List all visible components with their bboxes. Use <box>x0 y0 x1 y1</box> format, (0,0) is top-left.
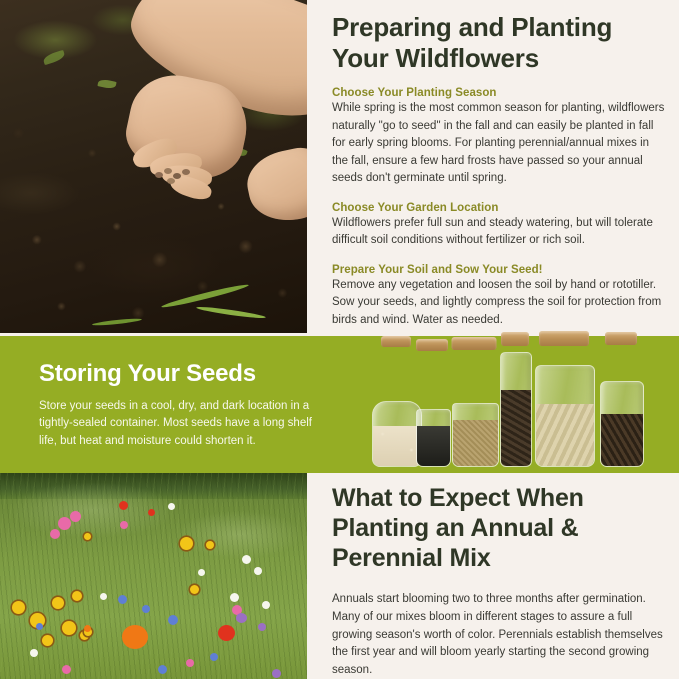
flower-blue-cornflower <box>142 605 150 613</box>
flower-purple <box>272 669 281 678</box>
flower-yellow <box>84 533 91 540</box>
subhead-prepare-soil: Prepare Your Soil and Sow Your Seed! <box>332 264 665 276</box>
flower-yellow <box>190 585 199 594</box>
cork-lid-icon <box>605 332 637 345</box>
flower-yellow <box>206 541 214 549</box>
flower-yellow <box>42 635 53 646</box>
cork-lid-icon <box>539 331 589 346</box>
wildflower-meadow-photo <box>0 473 307 679</box>
flower-yellow <box>180 537 193 550</box>
storing-body: Store your seeds in a cool, dry, and dar… <box>39 398 327 450</box>
flower-blue-cornflower <box>118 595 127 604</box>
flower-blue-cornflower <box>168 615 178 625</box>
flower-yellow <box>12 601 25 614</box>
flower-blue-cornflower <box>210 653 218 661</box>
flower-white <box>262 601 270 609</box>
subhead-planting-season: Choose Your Planting Season <box>332 87 665 99</box>
flower-purple <box>258 623 266 631</box>
expect-title: What to Expect When Planting an Annual &… <box>332 473 665 573</box>
section-what-to-expect: What to Expect When Planting an Annual &… <box>0 473 679 679</box>
flower-yellow <box>62 621 76 635</box>
jar-brown-grain <box>452 403 499 467</box>
flower-orange-poppy <box>122 625 148 649</box>
flower-pink <box>62 665 71 674</box>
flower-red-poppy <box>218 625 235 641</box>
flower-yellow <box>52 597 64 609</box>
cork-lid-icon <box>381 336 411 347</box>
flower-pink <box>50 529 60 539</box>
cork-lid-icon <box>501 332 529 346</box>
jar-white-beans <box>372 401 422 467</box>
expect-text-column: What to Expect When Planting an Annual &… <box>332 473 665 679</box>
page-title: Preparing and Planting Your Wildflowers <box>332 0 665 73</box>
section-preparing-and-planting: Preparing and Planting Your Wildflowers … <box>0 0 679 336</box>
jar-tall-dark-seeds <box>500 352 532 467</box>
jar-large-pumpkin-seeds <box>535 365 595 467</box>
meadow-grass-texture <box>0 473 307 679</box>
flower-white <box>168 503 175 510</box>
flower-blue-cornflower <box>158 665 167 674</box>
planting-text-column: Preparing and Planting Your Wildflowers … <box>332 0 665 329</box>
flower-pink <box>186 659 194 667</box>
flower-pink <box>120 521 128 529</box>
flower-pink <box>58 517 71 530</box>
flower-white <box>30 649 38 657</box>
expect-body: Annuals start blooming two to three mont… <box>332 591 665 679</box>
flower-white <box>230 593 239 602</box>
seeds-in-hand <box>155 168 197 190</box>
cork-lid-icon <box>416 339 448 351</box>
section-storing-your-seeds: Storing Your Seeds Store your seeds in a… <box>0 336 679 473</box>
hand-sowing-seeds-in-soil-photo <box>0 0 307 333</box>
flower-white <box>242 555 251 564</box>
flower-white <box>198 569 205 576</box>
flower-red <box>119 501 128 510</box>
body-prepare-soil: Remove any vegetation and loosen the soi… <box>332 277 665 329</box>
infographic-page: Preparing and Planting Your Wildflowers … <box>0 0 679 679</box>
glass-jars-of-seeds-photo <box>372 338 672 471</box>
cork-lid-icon <box>452 337 497 350</box>
flower-pink <box>70 511 81 522</box>
flower-orange <box>84 625 91 632</box>
flower-purple <box>236 613 247 623</box>
flower-white <box>254 567 262 575</box>
flower-blue-cornflower <box>36 623 43 630</box>
subhead-garden-location: Choose Your Garden Location <box>332 202 665 214</box>
storing-title: Storing Your Seeds <box>39 360 256 388</box>
flower-white <box>100 593 107 600</box>
flower-yellow <box>72 591 82 601</box>
body-garden-location: Wildflowers prefer full sun and steady w… <box>332 215 665 250</box>
flower-red <box>148 509 155 516</box>
body-planting-season: While spring is the most common season f… <box>332 100 665 187</box>
jar-sunflower-seeds <box>600 381 644 467</box>
jar-black-seeds <box>416 409 451 467</box>
